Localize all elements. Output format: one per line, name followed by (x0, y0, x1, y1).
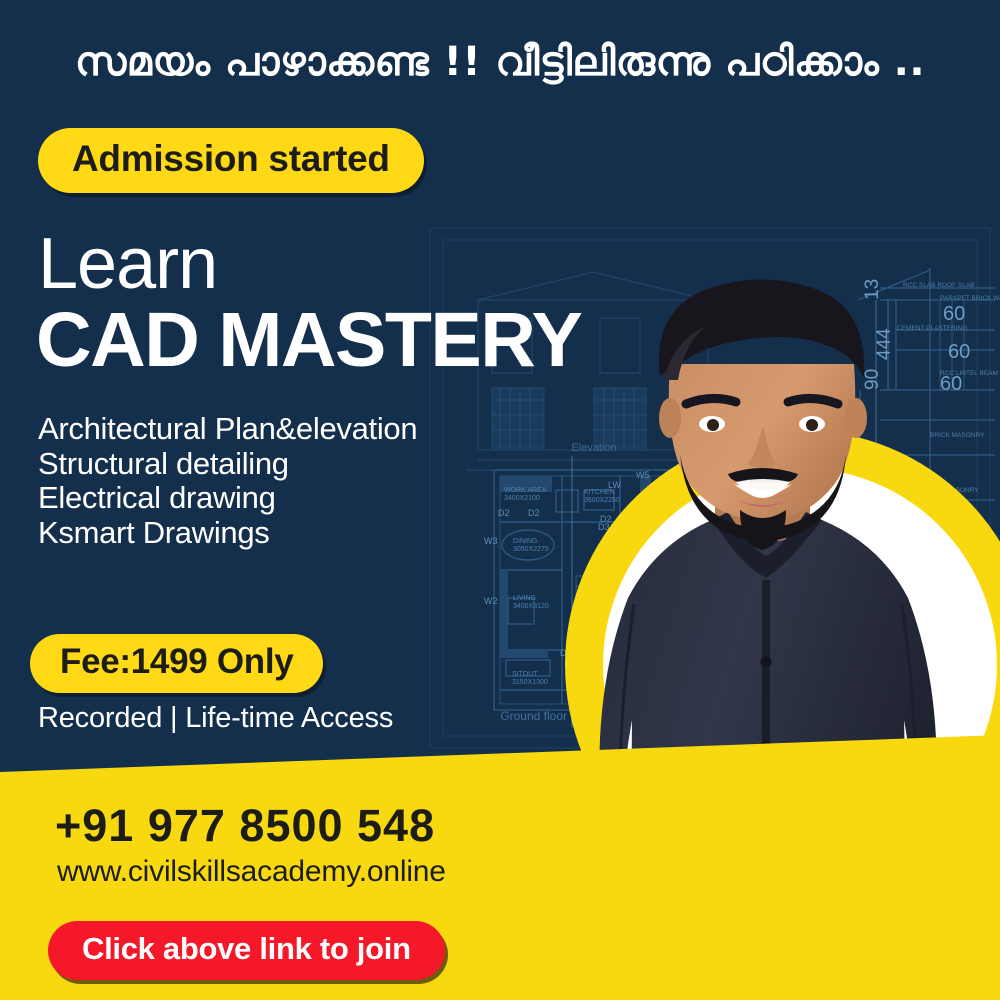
blueprint-room-sitout: SITOUT (512, 671, 538, 678)
feature-item-2: Structural detailing (38, 447, 417, 482)
fee-badge: Fee:1499 Only (30, 634, 323, 693)
blueprint-opening-w2: W2 (484, 596, 498, 606)
heading-cad-mastery: CAD MASTERY (36, 302, 581, 379)
blueprint-opening-d2-a: D2 (498, 508, 510, 518)
blueprint-room-dining-size: 3050X2275 (513, 546, 549, 553)
contact-phone[interactable]: +91 977 8500 548 (55, 800, 435, 852)
admission-started-badge: Admission started (38, 128, 424, 193)
blueprint-room-workarea-size: 3400X2100 (504, 495, 540, 502)
blueprint-room-living: LIVING (513, 595, 536, 602)
heading-learn: Learn (38, 228, 217, 300)
feature-item-1: Architectural Plan&elevation (38, 412, 417, 447)
malayalam-headline: സമയം പാഴാക്കണ്ട !! വീട്ടിലിരുന്നു പഠിക്ക… (0, 38, 1000, 86)
blueprint-room-sitout-size: 3150X1300 (512, 679, 548, 686)
blueprint-opening-d2-b: D2 (528, 508, 540, 518)
blueprint-room-living-size: 3400X3120 (513, 603, 549, 610)
feature-item-4: Ksmart Drawings (38, 516, 417, 551)
blueprint-opening-w3-a: W3 (484, 536, 498, 546)
blueprint-room-dining: DINING (513, 538, 538, 545)
feature-list: Architectural Plan&elevation Structural … (38, 412, 417, 551)
join-cta-button[interactable]: Click above link to join (48, 921, 445, 980)
access-info: Recorded | Life-time Access (38, 702, 393, 735)
blueprint-room-workarea: WORK AREA (504, 487, 547, 494)
poster-canvas: Elevation (0, 0, 1000, 1000)
feature-item-3: Electrical drawing (38, 481, 417, 516)
contact-website[interactable]: www.civilskillsacademy.online (57, 855, 446, 889)
